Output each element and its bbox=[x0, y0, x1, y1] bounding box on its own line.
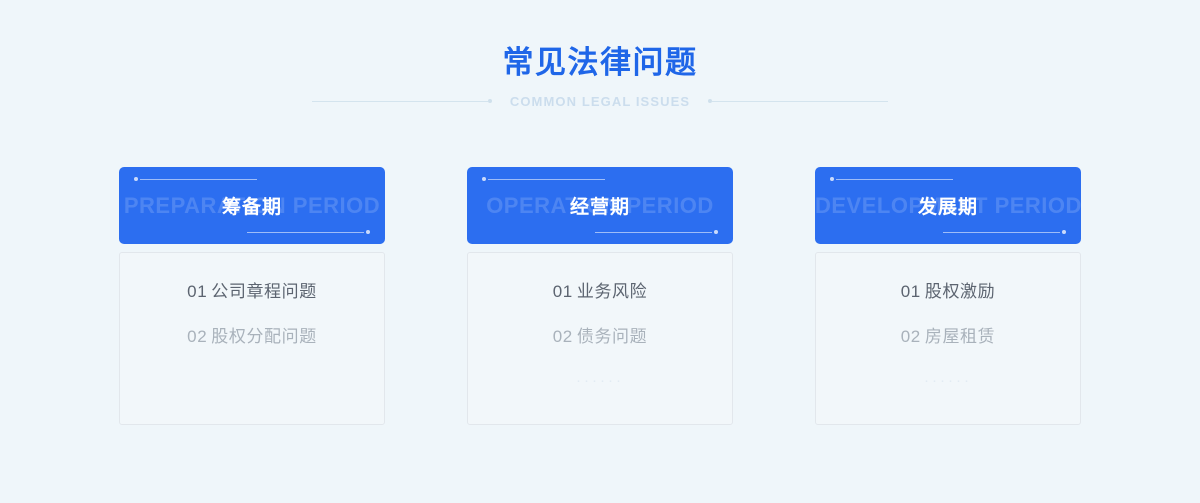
deco-dot-icon bbox=[366, 230, 370, 234]
card-header[interactable]: DEVELOPMENT PERIOD发展期 bbox=[815, 167, 1081, 244]
deco-dot-icon bbox=[714, 230, 718, 234]
card-header[interactable]: PREPARATION PERIOD筹备期 bbox=[119, 167, 385, 244]
card-list: PREPARATION PERIOD筹备期01公司章程问题02股权分配问题OPE… bbox=[0, 167, 1200, 425]
deco-line bbox=[488, 179, 605, 180]
issue-number: 01 bbox=[901, 282, 921, 301]
header-deco-bottom-right bbox=[943, 229, 1066, 235]
card-title: 筹备期 bbox=[222, 192, 282, 219]
issue-item[interactable]: 01股权激励 bbox=[816, 283, 1080, 300]
page-root: 常见法律问题 COMMON LEGAL ISSUES PREPARATION P… bbox=[0, 0, 1200, 503]
issue-item[interactable]: 01业务风险 bbox=[468, 283, 732, 300]
deco-dot-icon bbox=[134, 177, 138, 181]
card-body: 01股权激励02房屋租赁······ bbox=[815, 252, 1081, 425]
deco-line bbox=[140, 179, 257, 180]
issue-ellipsis: ······ bbox=[816, 373, 1080, 388]
heading-divider-right bbox=[708, 99, 888, 103]
period-card[interactable]: OPERATION PERIOD经营期01业务风险02债务问题······ bbox=[467, 167, 733, 425]
card-body: 01业务风险02债务问题······ bbox=[467, 252, 733, 425]
issue-label: 业务风险 bbox=[577, 282, 647, 301]
header-deco-top-left bbox=[830, 176, 953, 182]
divider-dot-icon bbox=[488, 99, 492, 103]
issue-number: 02 bbox=[553, 327, 573, 346]
period-card[interactable]: PREPARATION PERIOD筹备期01公司章程问题02股权分配问题 bbox=[119, 167, 385, 425]
period-card[interactable]: DEVELOPMENT PERIOD发展期01股权激励02房屋租赁······ bbox=[815, 167, 1081, 425]
header-deco-top-left bbox=[134, 176, 257, 182]
card-title: 经营期 bbox=[570, 192, 630, 219]
issue-number: 01 bbox=[553, 282, 573, 301]
deco-line bbox=[943, 232, 1060, 233]
card-title: 发展期 bbox=[918, 192, 978, 219]
heading-divider-left bbox=[312, 99, 492, 103]
issue-item[interactable]: 02债务问题 bbox=[468, 328, 732, 345]
deco-dot-icon bbox=[830, 177, 834, 181]
issue-item[interactable]: 01公司章程问题 bbox=[120, 283, 384, 300]
card-body: 01公司章程问题02股权分配问题 bbox=[119, 252, 385, 425]
divider-line bbox=[312, 101, 488, 102]
deco-line bbox=[247, 232, 364, 233]
deco-line bbox=[836, 179, 953, 180]
issue-item[interactable]: 02房屋租赁 bbox=[816, 328, 1080, 345]
deco-dot-icon bbox=[1062, 230, 1066, 234]
deco-dot-icon bbox=[482, 177, 486, 181]
divider-line bbox=[712, 101, 888, 102]
issue-ellipsis: ······ bbox=[468, 373, 732, 388]
header-deco-bottom-right bbox=[595, 229, 718, 235]
issue-item[interactable]: 02股权分配问题 bbox=[120, 328, 384, 345]
issue-label: 房屋租赁 bbox=[925, 327, 995, 346]
subtitle-row: COMMON LEGAL ISSUES bbox=[0, 94, 1200, 109]
issue-label: 公司章程问题 bbox=[211, 282, 317, 301]
issue-label: 股权分配问题 bbox=[211, 327, 317, 346]
issue-number: 01 bbox=[187, 282, 207, 301]
issue-number: 02 bbox=[901, 327, 921, 346]
section-heading: 常见法律问题 COMMON LEGAL ISSUES bbox=[0, 0, 1200, 109]
card-header[interactable]: OPERATION PERIOD经营期 bbox=[467, 167, 733, 244]
header-deco-top-left bbox=[482, 176, 605, 182]
issue-label: 股权激励 bbox=[925, 282, 995, 301]
issue-label: 债务问题 bbox=[577, 327, 647, 346]
deco-line bbox=[595, 232, 712, 233]
header-deco-bottom-right bbox=[247, 229, 370, 235]
issue-number: 02 bbox=[187, 327, 207, 346]
page-title: 常见法律问题 bbox=[0, 44, 1200, 83]
page-subtitle: COMMON LEGAL ISSUES bbox=[510, 94, 690, 109]
